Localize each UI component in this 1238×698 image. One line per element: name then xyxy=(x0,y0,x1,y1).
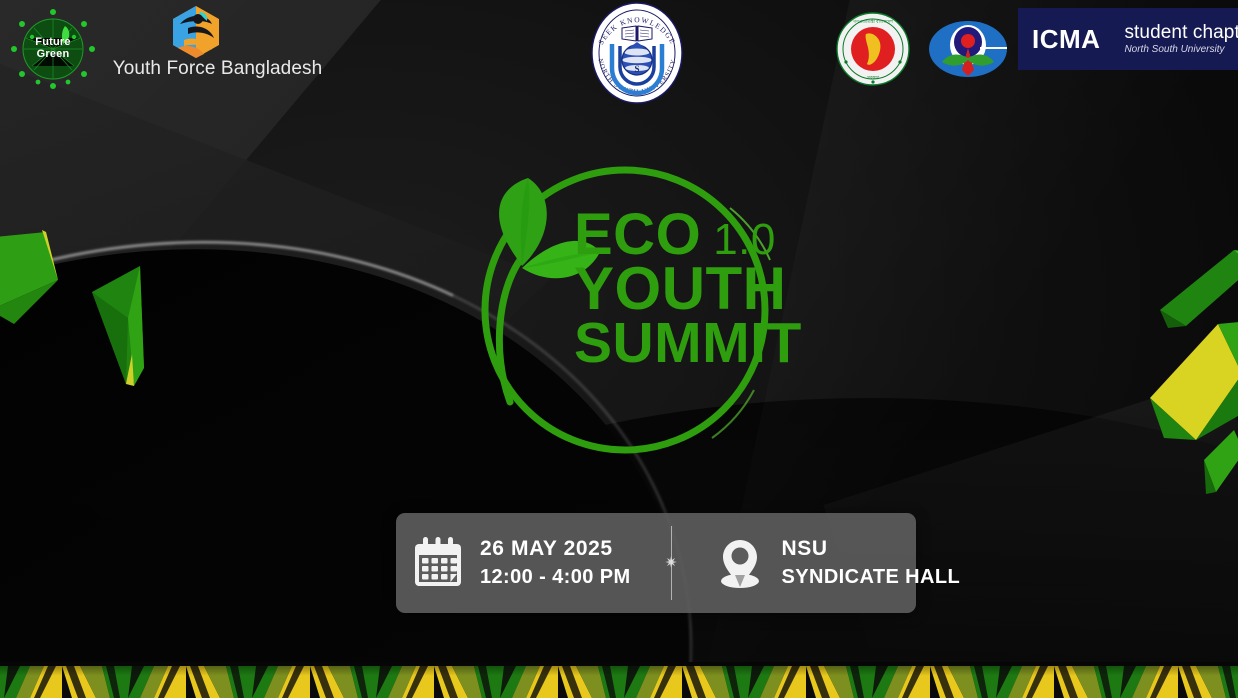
event-date-text: 26 MAY 2025 12:00 - 4:00 PM xyxy=(466,537,631,589)
event-poster: Future Green Youth Force Bangladesh xyxy=(0,0,1238,698)
logo-youth-force-bangladesh: Youth Force Bangladesh xyxy=(110,2,325,90)
icma-subtitle-group: student chapter North South University xyxy=(1112,22,1238,55)
event-title-eco: ECO xyxy=(574,208,701,261)
details-separator: ✷ xyxy=(671,526,672,600)
logo-icma-student-chapter: ICMA student chapter North South Univers… xyxy=(1018,8,1238,70)
event-venue-location: SYNDICATE HALL xyxy=(782,566,961,589)
green-crystal-shape-right-edge xyxy=(1204,430,1238,500)
event-date-value: 26 MAY 2025 xyxy=(480,537,631,561)
hexagon-person-icon xyxy=(168,4,224,60)
event-venue-name: NSU xyxy=(782,537,961,561)
icma-university-label: North South University xyxy=(1124,44,1238,56)
youth-force-name: Youth Force Bangladesh xyxy=(110,58,325,80)
logo-north-south-university: SEEK KNOWLEDGE NORTH SOUTH UNIVERSITY xyxy=(578,2,696,104)
icma-abbreviation: ICMA xyxy=(1018,26,1112,52)
location-pin-icon xyxy=(712,535,768,591)
event-title: ECO 1.0 YOUTH SUMMIT xyxy=(574,208,834,369)
event-title-youth: YOUTH xyxy=(574,261,834,316)
nsu-crest-icon: SEEK KNOWLEDGE NORTH SOUTH UNIVERSITY xyxy=(578,2,696,104)
yellow-crystal-shape-right-lower xyxy=(1146,312,1238,442)
svg-text:সরকার: সরকার xyxy=(866,75,880,80)
event-time-value: 12:00 - 4:00 PM xyxy=(480,566,631,589)
green-crystal-shape-left-lower xyxy=(88,258,208,388)
partner-logo-strip: Future Green Youth Force Bangladesh xyxy=(0,0,1238,96)
event-details-bar: 26 MAY 2025 12:00 - 4:00 PM ✷ NSU SYNDIC… xyxy=(396,513,916,613)
logo-bangladesh-government: গণপ্রজাতন্ত্রী বাংলাদেশ সরকার xyxy=(836,12,910,86)
bottom-decorative-pattern xyxy=(0,662,1238,698)
event-date-block: 26 MAY 2025 12:00 - 4:00 PM xyxy=(396,535,631,591)
event-title-summit: SUMMIT xyxy=(574,317,834,369)
sparkle-icon: ✷ xyxy=(662,554,681,573)
logo-future-green: Future Green xyxy=(8,4,98,94)
svg-text:গণপ্রজাতন্ত্রী বাংলাদেশ: গণপ্রজাতন্ত্রী বাংলাদেশ xyxy=(853,19,893,24)
future-green-wordmark: Future Green xyxy=(8,4,98,94)
event-venue-block: NSU SYNDICATE HALL xyxy=(706,535,961,591)
event-title-row-1: ECO 1.0 xyxy=(574,208,834,261)
svg-text:S: S xyxy=(634,64,639,74)
ministry-emblem-icon xyxy=(928,18,1008,80)
event-hero: ECO 1.0 YOUTH SUMMIT xyxy=(462,152,832,472)
icma-student-chapter-label: student chapter xyxy=(1124,22,1238,44)
bangladesh-government-seal-icon: গণপ্রজাতন্ত্রী বাংলাদেশ সরকার xyxy=(836,12,910,86)
calendar-icon xyxy=(410,535,466,591)
future-green-line2: Green xyxy=(37,49,70,61)
logo-ministry-emblem xyxy=(928,18,1008,80)
event-venue-text: NSU SYNDICATE HALL xyxy=(768,537,961,589)
